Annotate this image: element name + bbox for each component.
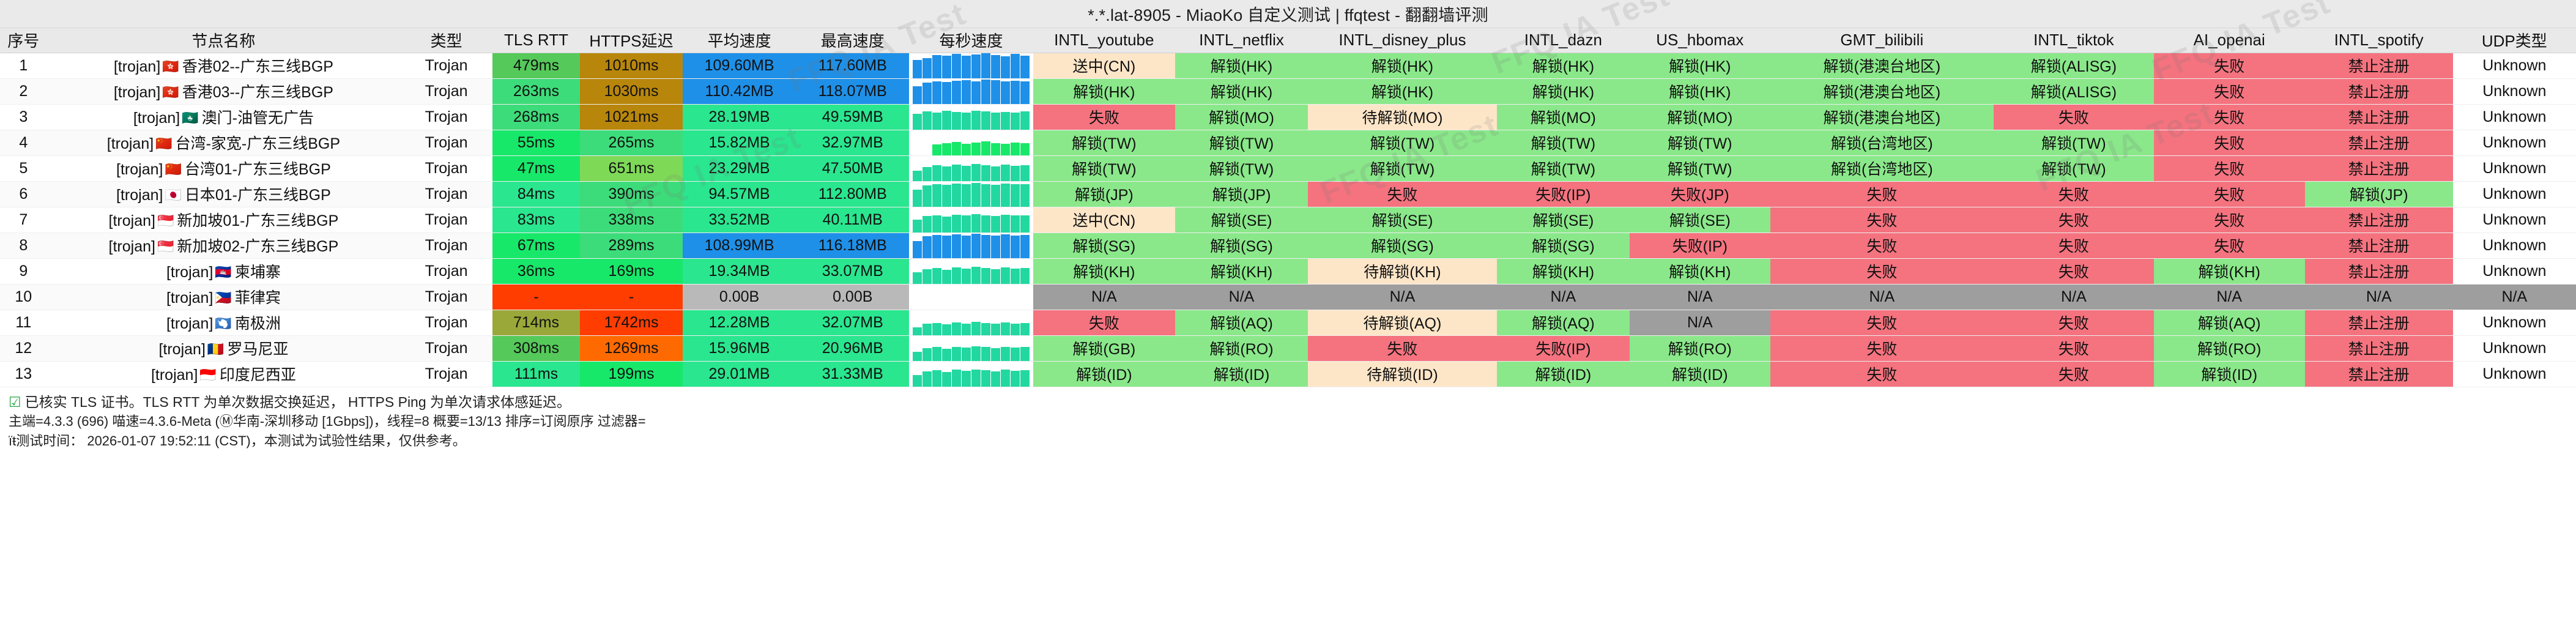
sparkline-bars xyxy=(913,362,1029,387)
node-name-cell: [trojan]🇦🇶南极洲 xyxy=(47,310,401,335)
sparkline-bar xyxy=(942,185,951,206)
https-latency-value: 338ms xyxy=(580,207,683,233)
per-second-speed-sparkline xyxy=(909,53,1033,78)
sparkline-bar xyxy=(1011,215,1020,232)
sparkline-bars xyxy=(913,259,1029,284)
table-row[interactable]: 1[trojan]🇭🇰香港02--广东三线BGPTrojan479ms1010m… xyxy=(0,53,2576,78)
column-header-10[interactable]: INTL_disney_plus xyxy=(1308,28,1497,53)
unlock-status-5: 失败 xyxy=(1770,335,1994,361)
sparkline-bar xyxy=(1020,268,1030,283)
unlock-status-0: 解锁(KH) xyxy=(1033,258,1175,284)
unlock-status-1: 解锁(MO) xyxy=(1175,104,1308,130)
sparkline-bar xyxy=(981,215,990,233)
column-header-9[interactable]: INTL_netflix xyxy=(1175,28,1308,53)
sparkline-bar xyxy=(1011,348,1020,360)
unlock-status-1: 解锁(KH) xyxy=(1175,258,1308,284)
proxy-type: Trojan xyxy=(400,233,492,258)
unlock-status-4: 解锁(MO) xyxy=(1630,104,1770,130)
sparkline-bar xyxy=(952,370,961,386)
node-name-cell: [trojan]🇲🇴澳门-油管无广告 xyxy=(47,104,401,130)
tls-rtt-value: 83ms xyxy=(492,207,580,233)
unlock-status-6: 失败 xyxy=(1994,335,2154,361)
check-icon: ☑ xyxy=(9,394,21,410)
column-header-15[interactable]: AI_openai xyxy=(2154,28,2305,53)
unlock-status-9: Unknown xyxy=(2453,181,2576,207)
unlock-status-0: 失败 xyxy=(1033,310,1175,335)
unlock-status-3: N/A xyxy=(1497,284,1630,310)
sparkline-bar xyxy=(1001,144,1010,155)
sparkline-bar xyxy=(1011,184,1020,206)
row-index: 2 xyxy=(0,78,47,104)
unlock-status-7: 失败 xyxy=(2154,53,2305,78)
sparkline-bar xyxy=(1001,165,1010,180)
column-header-5[interactable]: 平均速度 xyxy=(683,28,796,53)
table-row[interactable]: 2[trojan]🇭🇰香港03--广东三线BGPTrojan263ms1030m… xyxy=(0,78,2576,104)
table-row[interactable]: 10[trojan]🇵🇭菲律宾Trojan--0.00B0.00BN/AN/AN… xyxy=(0,284,2576,310)
sparkline-bar xyxy=(991,216,1000,232)
column-header-6[interactable]: 最高速度 xyxy=(796,28,909,53)
unlock-status-1: 解锁(JP) xyxy=(1175,181,1308,207)
sparkline-bar xyxy=(1011,166,1020,181)
unlock-status-6: 失败 xyxy=(1994,361,2154,387)
unlock-status-8: 禁止注册 xyxy=(2305,155,2453,181)
sparkline-bar xyxy=(932,347,941,360)
unlock-status-7: 失败 xyxy=(2154,207,2305,233)
unlock-status-1: 解锁(ID) xyxy=(1175,361,1308,387)
node-label: 南极洲 xyxy=(235,315,281,332)
table-row[interactable]: 12[trojan]🇷🇴罗马尼亚Trojan308ms1269ms15.96MB… xyxy=(0,335,2576,361)
sparkline-bar xyxy=(913,86,922,104)
sparkline-bar xyxy=(952,184,961,207)
per-second-speed-sparkline xyxy=(909,335,1033,361)
max-speed-value: 0.00B xyxy=(796,284,909,310)
sparkline-bar xyxy=(942,82,951,103)
sparkline-bar xyxy=(991,55,1000,78)
unlock-status-2: 解锁(SE) xyxy=(1308,207,1497,233)
sparkline-bar xyxy=(922,216,932,232)
per-second-speed-sparkline xyxy=(909,361,1033,387)
unlock-status-2: 待解锁(AQ) xyxy=(1308,310,1497,335)
node-label: 新加坡02-广东三线BGP xyxy=(177,238,338,255)
sparkline-bar xyxy=(1011,269,1020,284)
node-label: 台湾01-广东三线BGP xyxy=(185,161,331,178)
sparkline-bar xyxy=(981,370,990,386)
sparkline-bar xyxy=(962,80,971,104)
column-header-3[interactable]: TLS RTT xyxy=(492,28,580,53)
row-index: 3 xyxy=(0,104,47,130)
table-row[interactable]: 9[trojan]🇰🇭柬埔寨Trojan36ms169ms19.34MB33.0… xyxy=(0,258,2576,284)
max-speed-value: 40.11MB xyxy=(796,207,909,233)
row-index: 10 xyxy=(0,284,47,310)
sparkline-bar xyxy=(981,80,990,103)
sparkline-bar xyxy=(962,184,971,206)
sparkline-bar xyxy=(952,347,961,361)
unlock-status-3: 解锁(HK) xyxy=(1497,53,1630,78)
sparkline-bars xyxy=(913,182,1029,207)
table-row[interactable]: 5[trojan]🇨🇳台湾01-广东三线BGPTrojan47ms651ms23… xyxy=(0,155,2576,181)
sparkline-bar xyxy=(1001,81,1010,103)
unlock-status-8: 禁止注册 xyxy=(2305,78,2453,104)
node-name-cell: [trojan]🇮🇩印度尼西亚 xyxy=(47,361,401,387)
https-latency-value: 651ms xyxy=(580,155,683,181)
unlock-status-9: Unknown xyxy=(2453,361,2576,387)
tls-rtt-value: 36ms xyxy=(492,258,580,284)
node-label: 菲律宾 xyxy=(235,289,281,307)
node-name-cell: [trojan]🇷🇴罗马尼亚 xyxy=(47,335,401,361)
unlock-status-5: 解锁(港澳台地区) xyxy=(1770,53,1994,78)
sparkline-bar xyxy=(952,322,961,335)
unlock-status-1: 解锁(TW) xyxy=(1175,130,1308,155)
sparkline-bar xyxy=(1020,165,1030,180)
table-row[interactable]: 11[trojan]🇦🇶南极洲Trojan714ms1742ms12.28MB3… xyxy=(0,310,2576,335)
row-index: 4 xyxy=(0,130,47,155)
unlock-status-4: N/A xyxy=(1630,284,1770,310)
node-name-cell: [trojan]🇸🇬新加坡02-广东三线BGP xyxy=(47,233,401,258)
sparkline-bar xyxy=(922,167,932,181)
column-header-4[interactable]: HTTPS延迟 xyxy=(580,28,683,53)
sparkline-bar xyxy=(1011,81,1020,104)
unlock-status-0: 失败 xyxy=(1033,104,1175,130)
sparkline-bars xyxy=(913,156,1029,181)
node-name-cell: [trojan]🇨🇳台湾-家宽-广东三线BGP xyxy=(47,130,401,155)
unlock-status-8: 禁止注册 xyxy=(2305,130,2453,155)
table-row[interactable]: 7[trojan]🇸🇬新加坡01-广东三线BGPTrojan83ms338ms3… xyxy=(0,207,2576,233)
row-index: 9 xyxy=(0,258,47,284)
column-header-16[interactable]: INTL_spotify xyxy=(2305,28,2453,53)
sparkline-bars xyxy=(913,79,1029,104)
unlock-status-7: 解锁(KH) xyxy=(2154,258,2305,284)
unlock-status-0: 解锁(HK) xyxy=(1033,78,1175,104)
sparkline-bar xyxy=(952,112,961,130)
unlock-status-6: N/A xyxy=(1994,284,2154,310)
sparkline-bar xyxy=(991,113,1000,130)
per-second-speed-sparkline xyxy=(909,233,1033,258)
https-latency-value: 1742ms xyxy=(580,310,683,335)
sparkline-bar xyxy=(1001,56,1010,78)
unlock-status-4: 解锁(HK) xyxy=(1630,78,1770,104)
unlock-status-2: 待解锁(ID) xyxy=(1308,361,1497,387)
unlock-status-2: 待解锁(KH) xyxy=(1308,258,1497,284)
sparkline-bar xyxy=(952,54,961,78)
unlock-status-0: 解锁(JP) xyxy=(1033,181,1175,207)
results-table: 序号节点名称类型TLS RTTHTTPS延迟平均速度最高速度每秒速度INTL_y… xyxy=(0,28,2576,387)
https-latency-value: 1030ms xyxy=(580,78,683,104)
max-speed-value: 47.50MB xyxy=(796,155,909,181)
https-latency-value: - xyxy=(580,284,683,310)
sparkline-bar xyxy=(1001,370,1010,386)
country-flag-icon: 🇸🇬 xyxy=(157,239,174,254)
sparkline-bar xyxy=(932,81,941,104)
unlock-status-1: 解锁(TW) xyxy=(1175,155,1308,181)
sparkline-bar xyxy=(981,235,990,258)
unlock-status-6: 失败 xyxy=(1994,207,2154,233)
country-flag-icon: 🇭🇰 xyxy=(162,59,179,74)
sparkline-bar xyxy=(1001,112,1010,130)
table-body: 1[trojan]🇭🇰香港02--广东三线BGPTrojan479ms1010m… xyxy=(0,53,2576,387)
unlock-status-5: 解锁(港澳台地区) xyxy=(1770,78,1994,104)
sparkline-bar xyxy=(913,352,922,361)
sparkline-bar xyxy=(913,190,922,206)
max-speed-value: 49.59MB xyxy=(796,104,909,130)
sparkline-bars xyxy=(913,53,1029,78)
window-titlebar: *.*.lat-8905 - MiaoKo 自定义测试 | ffqtest - … xyxy=(0,0,2576,28)
sparkline-bar xyxy=(1001,347,1010,361)
unlock-status-4: 解锁(KH) xyxy=(1630,258,1770,284)
sparkline-bar xyxy=(932,323,941,335)
tls-rtt-value: 55ms xyxy=(492,130,580,155)
country-flag-icon: 🇵🇭 xyxy=(215,290,231,305)
sparkline-bar xyxy=(1020,56,1030,78)
sparkline-bar xyxy=(922,111,932,130)
avg-speed-value: 0.00B xyxy=(683,284,796,310)
column-header-17[interactable]: UDP类型 xyxy=(2453,28,2576,53)
unlock-status-0: 解锁(SG) xyxy=(1033,233,1175,258)
proxy-type: Trojan xyxy=(400,335,492,361)
row-index: 7 xyxy=(0,207,47,233)
sparkline-bar xyxy=(1020,323,1030,335)
avg-speed-value: 108.99MB xyxy=(683,233,796,258)
sparkline-bar xyxy=(1001,184,1010,207)
unlock-status-5: 解锁(台湾地区) xyxy=(1770,155,1994,181)
sparkline-bars xyxy=(913,105,1029,130)
sparkline-bar xyxy=(932,235,941,258)
per-second-speed-sparkline xyxy=(909,284,1033,310)
unlock-status-3: 解锁(HK) xyxy=(1497,78,1630,104)
sparkline-bar xyxy=(1011,54,1020,78)
node-label: 澳门-油管无广告 xyxy=(202,110,314,127)
sparkline-bar xyxy=(1011,371,1020,386)
node-label: 罗马尼亚 xyxy=(227,341,288,358)
unlock-status-0: 解锁(TW) xyxy=(1033,130,1175,155)
node-name-cell: [trojan]🇸🇬新加坡01-广东三线BGP xyxy=(47,207,401,233)
unlock-status-9: Unknown xyxy=(2453,233,2576,258)
table-row[interactable]: 8[trojan]🇸🇬新加坡02-广东三线BGPTrojan67ms289ms1… xyxy=(0,233,2576,258)
unlock-status-8: 禁止注册 xyxy=(2305,335,2453,361)
unlock-status-0: 解锁(TW) xyxy=(1033,155,1175,181)
sparkline-bar xyxy=(932,184,941,207)
protocol-label: [trojan] xyxy=(151,367,198,384)
window-title: *.*.lat-8905 - MiaoKo 自定义测试 | ffqtest - … xyxy=(1088,2,1488,26)
max-speed-value: 33.07MB xyxy=(796,258,909,284)
sparkline-bar xyxy=(952,81,961,104)
node-label: 香港03--广东三线BGP xyxy=(182,84,333,101)
table-row[interactable]: 4[trojan]🇨🇳台湾-家宽-广东三线BGPTrojan55ms265ms1… xyxy=(0,130,2576,155)
avg-speed-value: 33.52MB xyxy=(683,207,796,233)
unlock-status-2: 解锁(SG) xyxy=(1308,233,1497,258)
unlock-status-3: 解锁(TW) xyxy=(1497,155,1630,181)
proxy-type: Trojan xyxy=(400,207,492,233)
proxy-type: Trojan xyxy=(400,258,492,284)
column-header-2[interactable]: 类型 xyxy=(400,28,492,53)
column-header-14[interactable]: INTL_tiktok xyxy=(1994,28,2154,53)
sparkline-bar xyxy=(1011,113,1020,129)
sparkline-bar xyxy=(922,371,932,387)
sparkline-bar xyxy=(932,113,941,130)
unlock-status-7: 失败 xyxy=(2154,130,2305,155)
row-index: 12 xyxy=(0,335,47,361)
column-header-8[interactable]: INTL_youtube xyxy=(1033,28,1175,53)
sparkline-bars xyxy=(913,207,1029,233)
unlock-status-1: N/A xyxy=(1175,284,1308,310)
protocol-label: [trojan] xyxy=(166,264,213,281)
unlock-status-5: 失败 xyxy=(1770,233,1994,258)
unlock-status-7: 失败 xyxy=(2154,155,2305,181)
node-name-cell: [trojan]🇯🇵日本01-广东三线BGP xyxy=(47,181,401,207)
unlock-status-6: 失败 xyxy=(1994,310,2154,335)
sparkline-bar xyxy=(1020,215,1030,233)
column-header-12[interactable]: US_hbomax xyxy=(1630,28,1770,53)
sparkline-bar xyxy=(971,143,981,155)
sparkline-bar xyxy=(991,80,1000,104)
sparkline-bar xyxy=(1011,236,1020,258)
unlock-status-9: Unknown xyxy=(2453,78,2576,104)
column-header-0[interactable]: 序号 xyxy=(0,28,47,53)
avg-speed-value: 19.34MB xyxy=(683,258,796,284)
unlock-status-1: 解锁(RO) xyxy=(1175,335,1308,361)
proxy-type: Trojan xyxy=(400,78,492,104)
table-row[interactable]: 13[trojan]🇮🇩印度尼西亚Trojan111ms199ms29.01MB… xyxy=(0,361,2576,387)
sparkline-bar xyxy=(991,269,1000,284)
avg-speed-value: 15.96MB xyxy=(683,335,796,361)
proxy-type: Trojan xyxy=(400,53,492,78)
tls-rtt-value: 67ms xyxy=(492,233,580,258)
unlock-status-1: 解锁(HK) xyxy=(1175,78,1308,104)
unlock-status-7: 解锁(RO) xyxy=(2154,335,2305,361)
sparkline-bar xyxy=(1020,111,1030,130)
row-index: 6 xyxy=(0,181,47,207)
sparkline-bar xyxy=(952,234,961,258)
avg-speed-value: 12.28MB xyxy=(683,310,796,335)
max-speed-value: 112.80MB xyxy=(796,181,909,207)
per-second-speed-sparkline xyxy=(909,78,1033,104)
sparkline-bar xyxy=(922,269,932,284)
unlock-status-1: 解锁(AQ) xyxy=(1175,310,1308,335)
https-latency-value: 1269ms xyxy=(580,335,683,361)
sparkline-bar xyxy=(971,214,981,233)
unlock-status-0: 送中(CN) xyxy=(1033,53,1175,78)
node-name-cell: [trojan]🇭🇰香港02--广东三线BGP xyxy=(47,53,401,78)
unlock-status-2: 待解锁(MO) xyxy=(1308,104,1497,130)
sparkline-bar xyxy=(942,166,951,181)
unlock-status-6: 解锁(ALISG) xyxy=(1994,78,2154,104)
sparkline-bar xyxy=(922,58,932,78)
https-latency-value: 1010ms xyxy=(580,53,683,78)
column-header-13[interactable]: GMT_bilibili xyxy=(1770,28,1994,53)
protocol-label: [trojan] xyxy=(158,341,205,358)
sparkline-bars xyxy=(913,285,1029,310)
avg-speed-value: 28.19MB xyxy=(683,104,796,130)
sparkline-bar xyxy=(1020,81,1030,104)
protocol-label: [trojan] xyxy=(109,238,155,255)
sparkline-bar xyxy=(913,327,922,335)
sparkline-bar xyxy=(962,56,971,78)
sparkline-bar xyxy=(971,346,981,361)
column-header-7[interactable]: 每秒速度 xyxy=(909,28,1033,53)
sparkline-bar xyxy=(991,371,1000,387)
unlock-status-5: 失败 xyxy=(1770,207,1994,233)
node-label: 日本01-广东三线BGP xyxy=(185,187,331,204)
sparkline-bar xyxy=(942,270,951,284)
protocol-label: [trojan] xyxy=(114,84,160,101)
row-index: 8 xyxy=(0,233,47,258)
sparkline-bar xyxy=(1020,143,1030,155)
unlock-status-5: 解锁(港澳台地区) xyxy=(1770,104,1994,130)
unlock-status-2: N/A xyxy=(1308,284,1497,310)
sparkline-bar xyxy=(913,241,922,258)
sparkline-bar xyxy=(1001,267,1010,283)
tls-rtt-value: 47ms xyxy=(492,155,580,181)
row-index: 5 xyxy=(0,155,47,181)
node-label: 新加坡01-广东三线BGP xyxy=(177,212,338,229)
per-second-speed-sparkline xyxy=(909,130,1033,155)
unlock-status-9: Unknown xyxy=(2453,335,2576,361)
node-label: 柬埔寨 xyxy=(235,264,281,281)
node-name-cell: [trojan]🇵🇭菲律宾 xyxy=(47,284,401,310)
sparkline-bar xyxy=(913,272,922,283)
unlock-status-7: 失败 xyxy=(2154,78,2305,104)
column-header-1[interactable]: 节点名称 xyxy=(47,28,401,53)
max-speed-value: 118.07MB xyxy=(796,78,909,104)
unlock-status-3: 解锁(SE) xyxy=(1497,207,1630,233)
tls-rtt-value: 263ms xyxy=(492,78,580,104)
sparkline-bar xyxy=(971,183,981,207)
tls-rtt-value: 479ms xyxy=(492,53,580,78)
per-second-speed-sparkline xyxy=(909,104,1033,130)
sparkline-bar xyxy=(1020,347,1030,360)
node-name-cell: [trojan]🇭🇰香港03--广东三线BGP xyxy=(47,78,401,104)
sparkline-bar xyxy=(971,267,981,283)
node-name-cell: [trojan]🇨🇳台湾01-广东三线BGP xyxy=(47,155,401,181)
unlock-status-0: N/A xyxy=(1033,284,1175,310)
country-flag-icon: 🇷🇴 xyxy=(207,341,224,357)
table-row[interactable]: 3[trojan]🇲🇴澳门-油管无广告Trojan268ms1021ms28.1… xyxy=(0,104,2576,130)
unlock-status-6: 失败 xyxy=(1994,181,2154,207)
avg-speed-value: 29.01MB xyxy=(683,361,796,387)
proxy-type: Trojan xyxy=(400,155,492,181)
sparkline-bar xyxy=(913,60,922,78)
table-row[interactable]: 6[trojan]🇯🇵日本01-广东三线BGPTrojan84ms390ms94… xyxy=(0,181,2576,207)
sparkline-bar xyxy=(971,81,981,104)
proxy-type: Trojan xyxy=(400,130,492,155)
unlock-status-3: 失败(IP) xyxy=(1497,335,1630,361)
unlock-status-2: 解锁(HK) xyxy=(1308,78,1497,104)
unlock-status-3: 解锁(KH) xyxy=(1497,258,1630,284)
unlock-status-8: 解锁(JP) xyxy=(2305,181,2453,207)
unlock-status-5: 失败 xyxy=(1770,258,1994,284)
unlock-status-2: 解锁(HK) xyxy=(1308,53,1497,78)
country-flag-icon: 🇮🇩 xyxy=(199,367,216,382)
sparkline-bars xyxy=(913,130,1029,155)
unlock-status-7: 失败 xyxy=(2154,233,2305,258)
column-header-11[interactable]: INTL_dazn xyxy=(1497,28,1630,53)
https-latency-value: 265ms xyxy=(580,130,683,155)
proxy-type: Trojan xyxy=(400,361,492,387)
max-speed-value: 20.96MB xyxy=(796,335,909,361)
sparkline-bar xyxy=(981,141,990,155)
unlock-status-4: 失败(IP) xyxy=(1630,233,1770,258)
unlock-status-3: 解锁(ID) xyxy=(1497,361,1630,387)
sparkline-bar xyxy=(981,165,990,180)
sparkline-bar xyxy=(1020,370,1030,386)
avg-speed-value: 15.82MB xyxy=(683,130,796,155)
sparkline-bar xyxy=(952,142,961,155)
unlock-status-9: Unknown xyxy=(2453,310,2576,335)
tls-rtt-value: 268ms xyxy=(492,104,580,130)
protocol-label: [trojan] xyxy=(107,135,154,152)
sparkline-bar xyxy=(942,56,951,78)
sparkline-bar xyxy=(981,268,990,283)
unlock-status-1: 解锁(SE) xyxy=(1175,207,1308,233)
